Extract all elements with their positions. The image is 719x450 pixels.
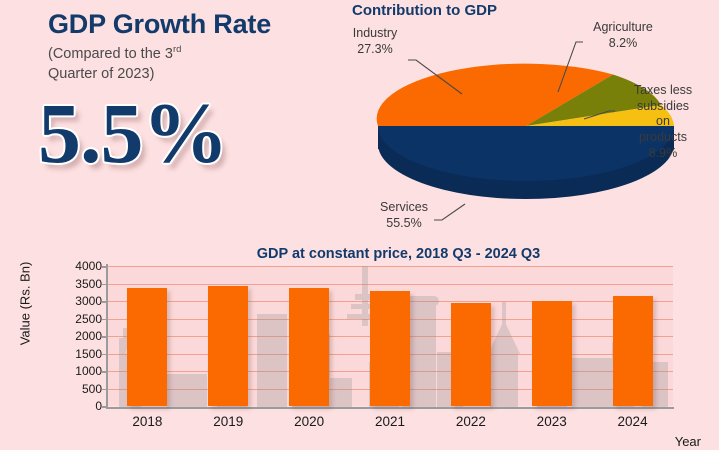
y-axis-tick-mark [102, 336, 107, 338]
pie-chart-section: Contribution to GDP [330, 0, 719, 250]
x-axis-tick-label: 2024 [618, 414, 648, 429]
gridline [107, 266, 673, 267]
x-axis-tick-label: 2023 [537, 414, 567, 429]
x-axis-tick-label: 2020 [294, 414, 324, 429]
headline-subtitle-line1: (Compared to the 3 [48, 46, 173, 62]
pie-label-taxes: Taxes lesssubsidiesonproducts8.9% [615, 83, 711, 161]
y-axis-tick-mark [102, 266, 107, 268]
x-axis-title: Year [675, 434, 701, 449]
y-axis-tick-label: 1500 [58, 347, 102, 361]
headline-block: GDP Growth Rate (Compared to the 3rd Qua… [48, 10, 308, 84]
x-axis-tick-label: 2022 [456, 414, 486, 429]
y-axis-tick-label: 2000 [58, 329, 102, 343]
bar-2021 [370, 291, 410, 407]
y-axis-tick-mark [102, 354, 107, 356]
y-axis-tick-label: 0 [58, 399, 102, 413]
bar-2018 [127, 288, 167, 406]
pie-label-services: Services55.5% [358, 200, 450, 231]
bar-chart-section: GDP at constant price, 2018 Q3 - 2024 Q3 [0, 238, 719, 450]
y-axis-tick-mark [102, 301, 107, 303]
y-axis-title: Value (Rs. Bn) [18, 249, 33, 359]
ordinal-suffix: rd [173, 44, 181, 55]
growth-rate-value: 5.5% [38, 90, 228, 176]
y-axis-tick-label: 3500 [58, 277, 102, 291]
y-axis-tick-mark [102, 284, 107, 286]
x-axis-tick-label: 2019 [213, 414, 243, 429]
y-axis-tick-label: 1000 [58, 364, 102, 378]
gdp-infographic: GDP Growth Rate (Compared to the 3rd Qua… [0, 0, 719, 450]
bar-2023 [532, 301, 572, 406]
bar-chart-title: GDP at constant price, 2018 Q3 - 2024 Q3 [0, 246, 719, 262]
y-axis-tick-mark [102, 371, 107, 373]
page-title: GDP Growth Rate [48, 10, 308, 38]
headline-subtitle-line2: Quarter of 2023) [48, 66, 154, 82]
y-axis-tick-label: 2500 [58, 312, 102, 326]
bar-2019 [208, 286, 248, 406]
gridline [107, 284, 673, 285]
headline-subtitle: (Compared to the 3rd Quarter of 2023) [48, 44, 233, 84]
y-axis-ticks: 05001000150020002500300035004000 [52, 266, 102, 406]
y-axis-tick-mark [102, 389, 107, 391]
y-axis-tick-label: 4000 [58, 259, 102, 273]
pie-label-agriculture: Agriculture8.2% [573, 20, 673, 51]
bar-2022 [451, 303, 491, 406]
y-axis-tick-label: 3000 [58, 294, 102, 308]
y-axis-tick-mark [102, 406, 107, 408]
bar-2020 [289, 288, 329, 406]
x-axis-line [106, 407, 674, 409]
y-axis-tick-mark [102, 319, 107, 321]
y-axis-tick-label: 500 [58, 382, 102, 396]
bar-2024 [613, 296, 653, 406]
x-axis-tick-label: 2018 [132, 414, 162, 429]
x-axis-tick-label: 2021 [375, 414, 405, 429]
pie-label-industry: Industry27.3% [332, 26, 418, 57]
